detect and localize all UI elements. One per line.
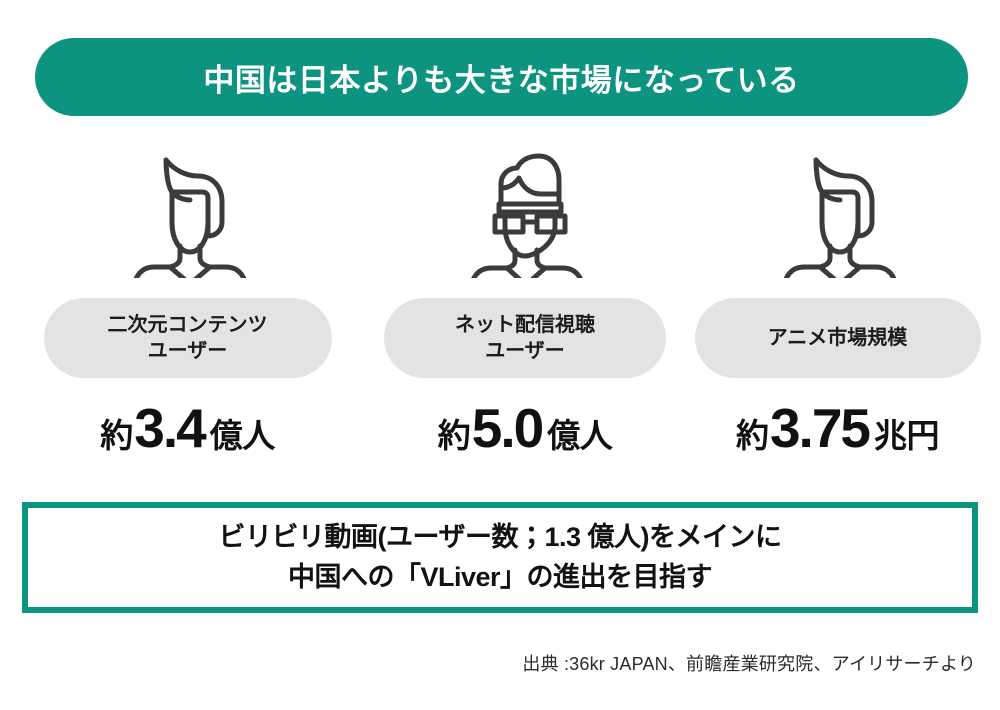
- callout-line-2: 中国への「VLiver」の進出を目指す: [288, 558, 712, 597]
- stat-number-2: 5.0: [470, 396, 547, 460]
- stat-label-pill-1: 二次元コンテンツユーザー: [44, 298, 332, 378]
- stat-columns: 二次元コンテンツユーザー 約 3.4 億人: [0, 146, 1000, 476]
- stat-prefix-2: 約: [438, 409, 470, 457]
- person-with-glasses-icon: [465, 146, 585, 278]
- header-banner: 中国は日本よりも大きな市場になっている: [35, 38, 968, 116]
- stat-value-1: 約 3.4 億人: [100, 396, 274, 460]
- stat-column-3: アニメ市場規模 約 3.75 兆円: [675, 146, 1000, 476]
- stat-label-text-1: 二次元コンテンツユーザー: [108, 312, 268, 365]
- infographic-canvas: 中国は日本よりも大きな市場になっている 二次元コンテンツユーザー: [0, 0, 1000, 710]
- stat-label-text-2: ネット配信視聴ユーザー: [455, 312, 595, 365]
- person-swept-hair-icon: [778, 146, 898, 278]
- stat-label-pill-3: アニメ市場規模: [695, 298, 981, 378]
- stat-number-3: 3.75: [768, 396, 874, 460]
- page-title: 中国は日本よりも大きな市場になっている: [203, 55, 799, 100]
- person-swept-hair-icon: [128, 146, 248, 278]
- stat-column-2: ネット配信視聴ユーザー 約 5.0 億人: [375, 146, 675, 476]
- stat-value-2: 約 5.0 億人: [438, 396, 612, 460]
- stat-number-1: 3.4: [132, 396, 209, 460]
- stat-column-1: 二次元コンテンツユーザー 約 3.4 億人: [0, 146, 375, 476]
- stat-prefix-3: 約: [736, 409, 768, 457]
- source-note: 出典 :36kr JAPAN、前瞻産業研究院、アイリサーチより: [522, 650, 976, 676]
- stat-prefix-1: 約: [100, 409, 132, 457]
- stat-unit-3: 兆円: [874, 409, 939, 457]
- stat-label-text-3: アニメ市場規模: [768, 325, 908, 351]
- callout-line-1: ビリビリ動画(ユーザー数；1.3 億人)をメインに: [219, 518, 782, 557]
- stat-value-3: 約 3.75 兆円: [736, 396, 939, 460]
- stat-unit-2: 億人: [547, 409, 612, 457]
- callout-box: ビリビリ動画(ユーザー数；1.3 億人)をメインに 中国への「VLiver」の進…: [22, 502, 978, 613]
- stat-label-pill-2: ネット配信視聴ユーザー: [384, 298, 666, 378]
- stat-unit-1: 億人: [210, 409, 275, 457]
